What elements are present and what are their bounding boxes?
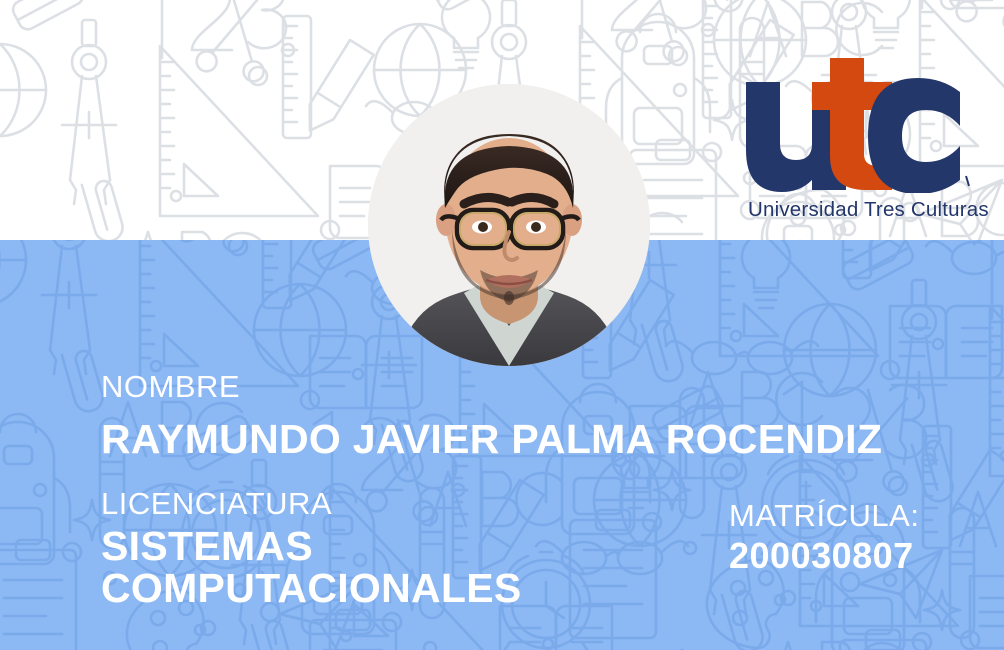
- enrollment-id-value: 200030807: [729, 538, 914, 575]
- career-value-line-1: SISTEMAS: [101, 526, 661, 568]
- career-label: LICENCIATURA: [101, 488, 332, 519]
- career-value: SISTEMAS COMPUTACIONALES: [101, 526, 661, 610]
- student-photo: [368, 84, 650, 366]
- enrollment-id-label: MATRÍCULA:: [729, 500, 919, 531]
- name-label: NOMBRE: [101, 371, 240, 402]
- career-value-line-2: COMPUTACIONALES: [101, 568, 661, 610]
- utc-letter-c: [868, 78, 960, 193]
- utc-logo-mark: [742, 48, 972, 188]
- utc-logo: Universidad Tres Culturas: [742, 48, 972, 223]
- student-id-card: Universidad Tres Culturas NOMBRE RAYMUND…: [0, 0, 1004, 650]
- name-value: RAYMUNDO JAVIER PALMA ROCENDIZ: [101, 419, 882, 461]
- utc-wordmark: Universidad Tres Culturas: [748, 198, 989, 222]
